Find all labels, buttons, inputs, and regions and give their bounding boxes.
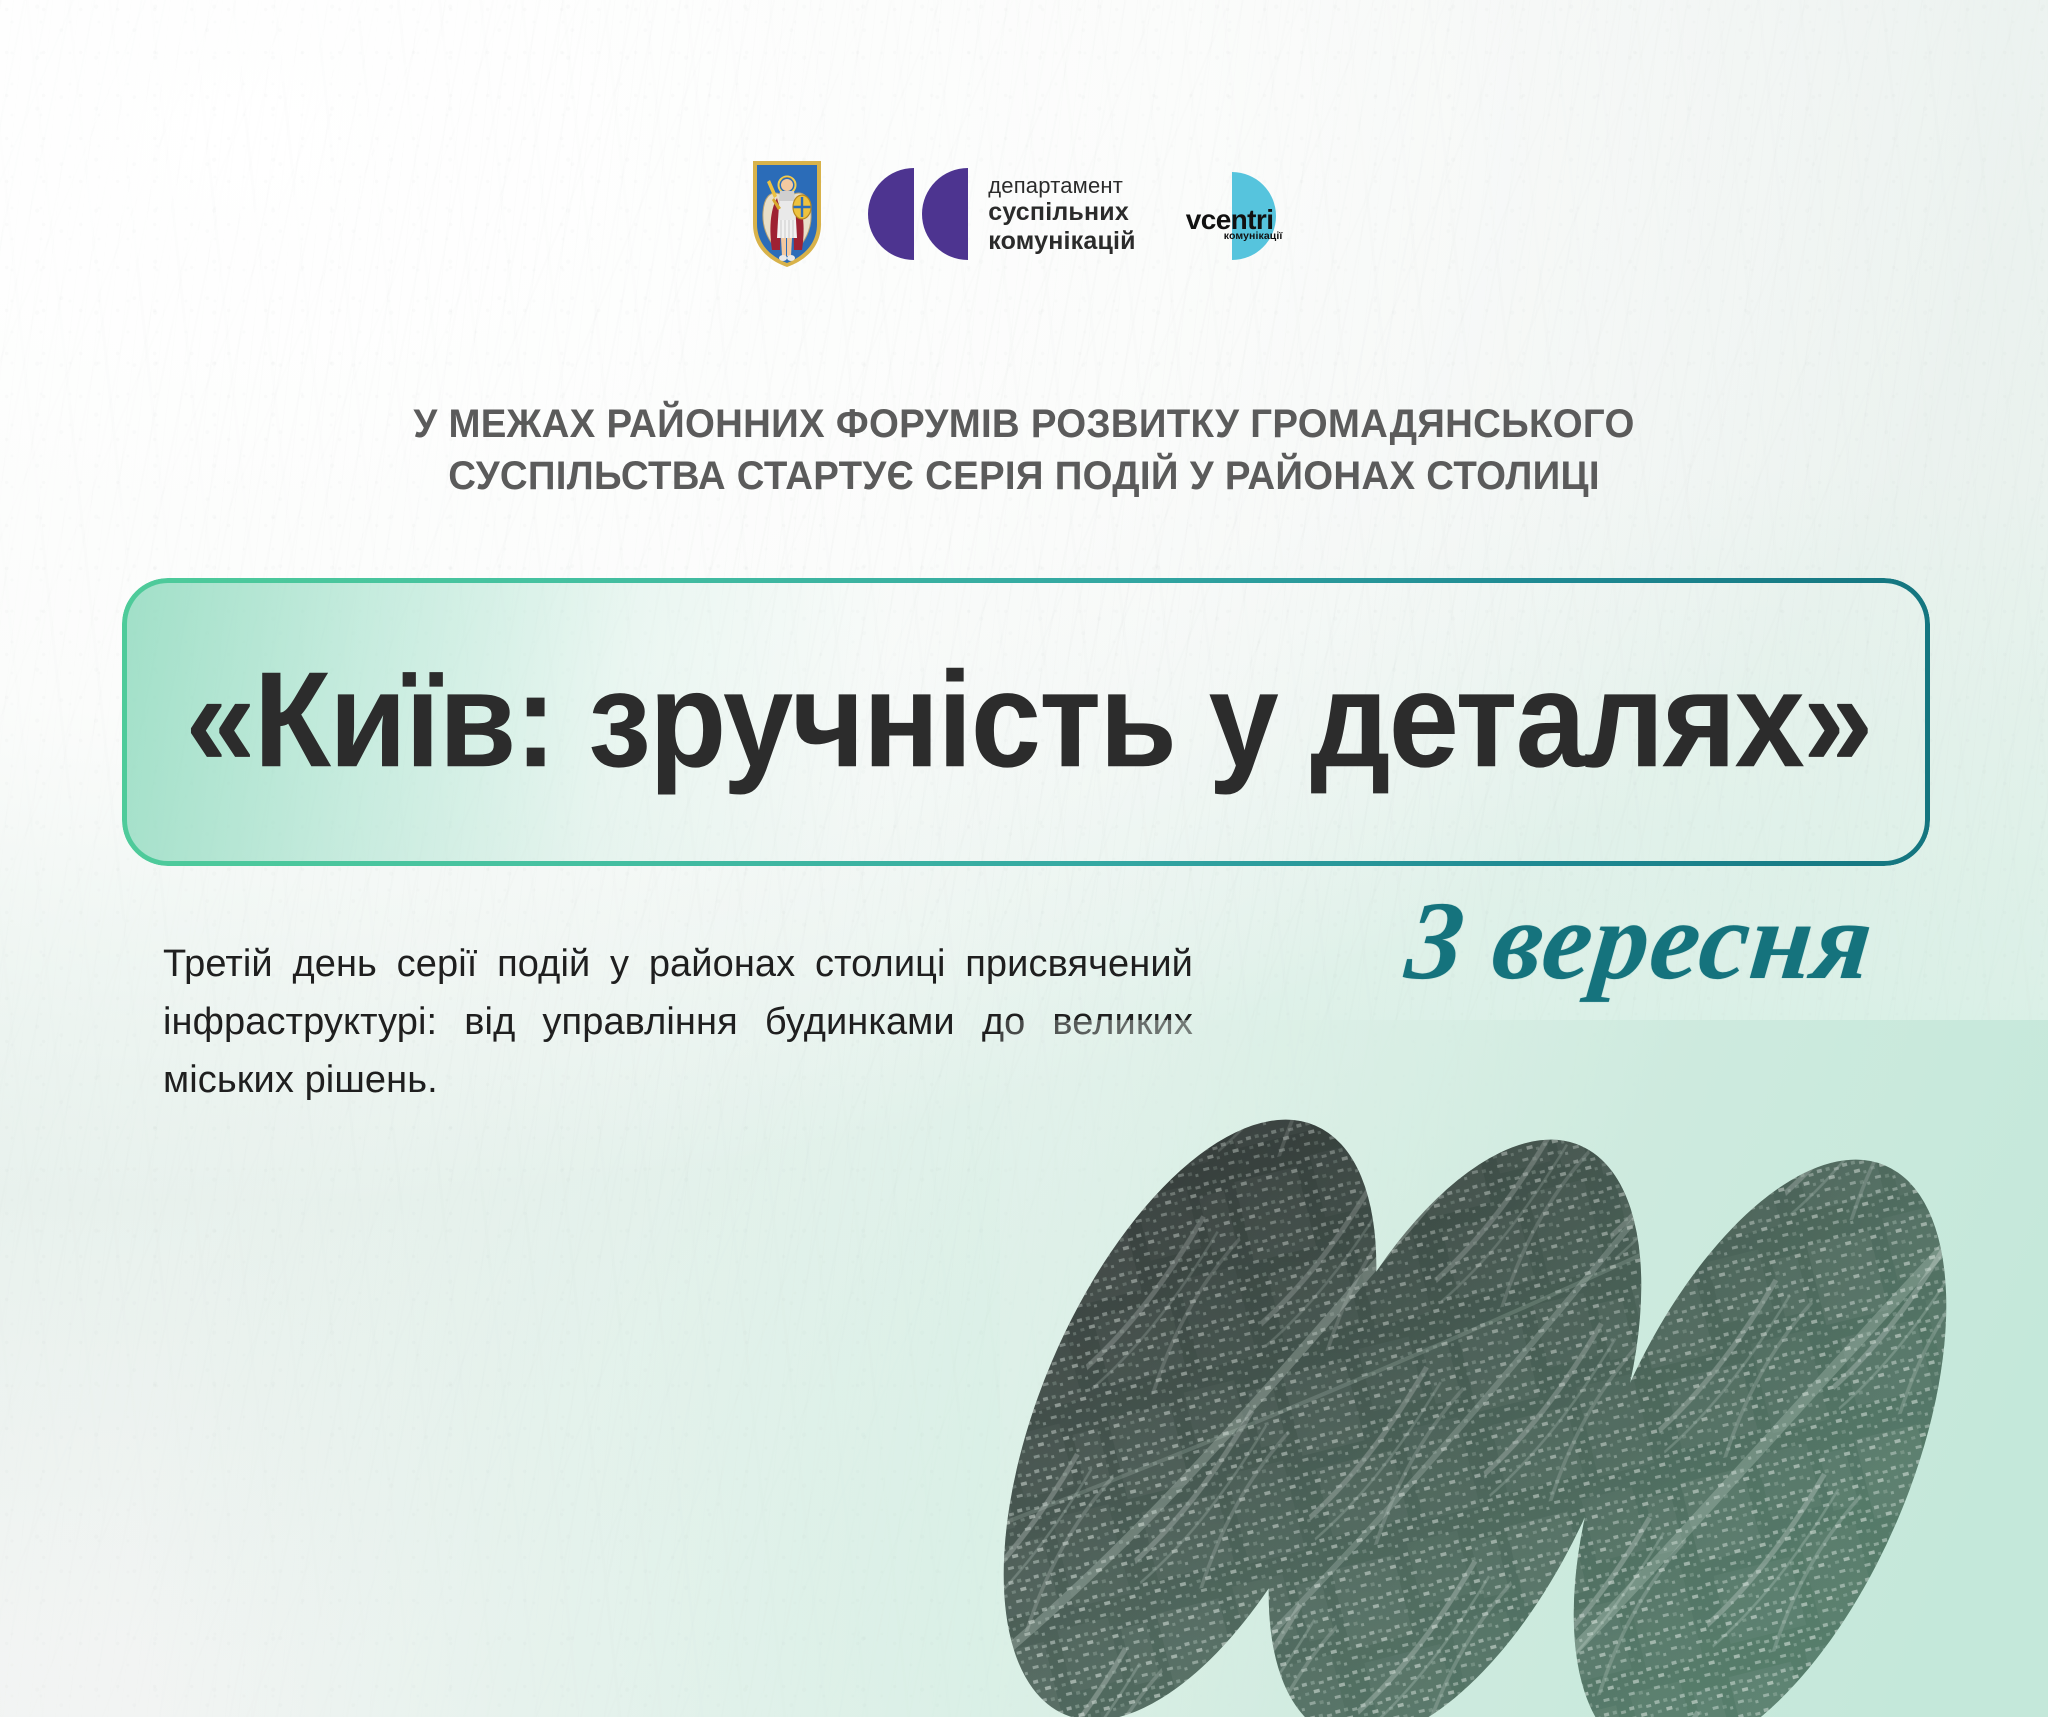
department-line-2: суспільних	[988, 198, 1136, 227]
department-line-3: комунікацій	[988, 227, 1136, 256]
kyiv-m-brandmark-city-photo	[1000, 1020, 2048, 1717]
vcentri-subtitle: комунікації	[1224, 230, 1283, 242]
m-brandmark-svg	[1000, 1020, 2048, 1717]
logo-strip: департамент суспільних комунікацій vcent…	[0, 158, 2048, 270]
headline-line-1: У МЕЖАХ РАЙОННИХ ФОРУМІВ РОЗВИТКУ ГРОМАД…	[41, 398, 2007, 450]
title-box: «Київ: зручність у деталях»	[122, 578, 1930, 866]
page-title: «Київ: зручність у деталях»	[185, 651, 1866, 787]
department-logo-text: департамент суспільних комунікацій	[988, 173, 1136, 255]
headline-line-2: СУСПІЛЬСТВА СТАРТУЄ СЕРІЯ ПОДІЙ У РАЙОНА…	[41, 450, 2007, 502]
headline: У МЕЖАХ РАЙОННИХ ФОРУМІВ РОЗВИТКУ ГРОМАД…	[41, 398, 2007, 502]
department-logo: департамент суспільних комунікацій	[866, 166, 1136, 262]
department-line-1: департамент	[988, 173, 1136, 198]
department-mark-icon	[866, 166, 970, 262]
kyiv-coat-of-arms-icon	[750, 158, 824, 270]
event-date: 3 вересня	[1294, 885, 1986, 997]
poster-canvas: департамент суспільних комунікацій vcent…	[0, 0, 2048, 1717]
vcentri-logo: vcentri комунікації	[1180, 168, 1298, 260]
